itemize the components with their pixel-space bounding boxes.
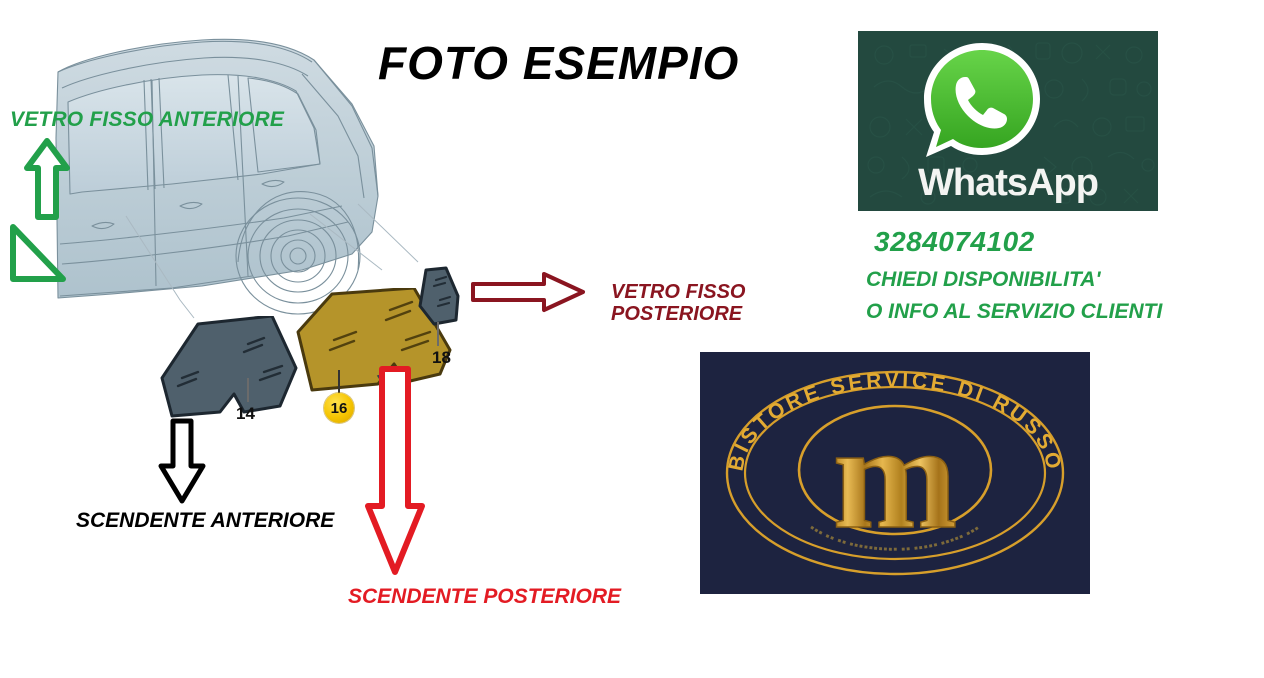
triangle-outline-icon bbox=[8, 222, 68, 284]
part-number-16-badge: 16 bbox=[324, 393, 354, 423]
label-vetro-fisso-posteriore-line1: VETRO FISSO bbox=[611, 281, 745, 303]
up-arrow-outline-icon bbox=[24, 138, 70, 220]
shop-logo-plate: MRICAMBISTORE SERVICE DI RUSSO MARCO m ■… bbox=[700, 352, 1090, 594]
label-vetro-fisso-anteriore: VETRO FISSO ANTERIORE bbox=[10, 108, 284, 132]
whatsapp-wordmark: WhatsApp bbox=[858, 162, 1158, 205]
label-vetro-fisso-posteriore: VETRO FISSO POSTERIORE bbox=[611, 281, 745, 326]
shop-logo-monogram: m bbox=[833, 394, 958, 560]
poster-canvas: 14 16 17 18 FOTO ESEMPIO VETRO FISSO ANT… bbox=[0, 0, 1264, 678]
part-14-glass bbox=[160, 316, 300, 422]
whatsapp-info-line-1: CHIEDI DISPONIBILITA' bbox=[866, 268, 1100, 292]
part-18-glass bbox=[412, 266, 464, 328]
page-title: FOTO ESEMPIO bbox=[378, 36, 739, 90]
down-arrow-outline-icon-black bbox=[158, 418, 206, 504]
down-arrow-outline-icon-red bbox=[364, 366, 426, 576]
part-number-14: 14 bbox=[236, 404, 255, 424]
right-arrow-outline-icon bbox=[470, 270, 586, 314]
shop-logo-emblem: MRICAMBISTORE SERVICE DI RUSSO MARCO m ■… bbox=[700, 352, 1090, 594]
whatsapp-logo-icon bbox=[910, 37, 1050, 165]
whatsapp-phone-number: 3284074102 bbox=[874, 226, 1035, 258]
leader-line-14 bbox=[247, 378, 249, 402]
label-scendente-anteriore: SCENDENTE ANTERIORE bbox=[76, 509, 334, 533]
part-number-18: 18 bbox=[432, 348, 451, 368]
whatsapp-info-line-2: O INFO AL SERVIZIO CLIENTI bbox=[866, 300, 1162, 324]
label-scendente-posteriore: SCENDENTE POSTERIORE bbox=[348, 585, 621, 609]
leader-line-18 bbox=[437, 322, 439, 346]
whatsapp-banner: WhatsApp bbox=[858, 31, 1158, 211]
label-vetro-fisso-posteriore-line2: POSTERIORE bbox=[611, 303, 742, 325]
